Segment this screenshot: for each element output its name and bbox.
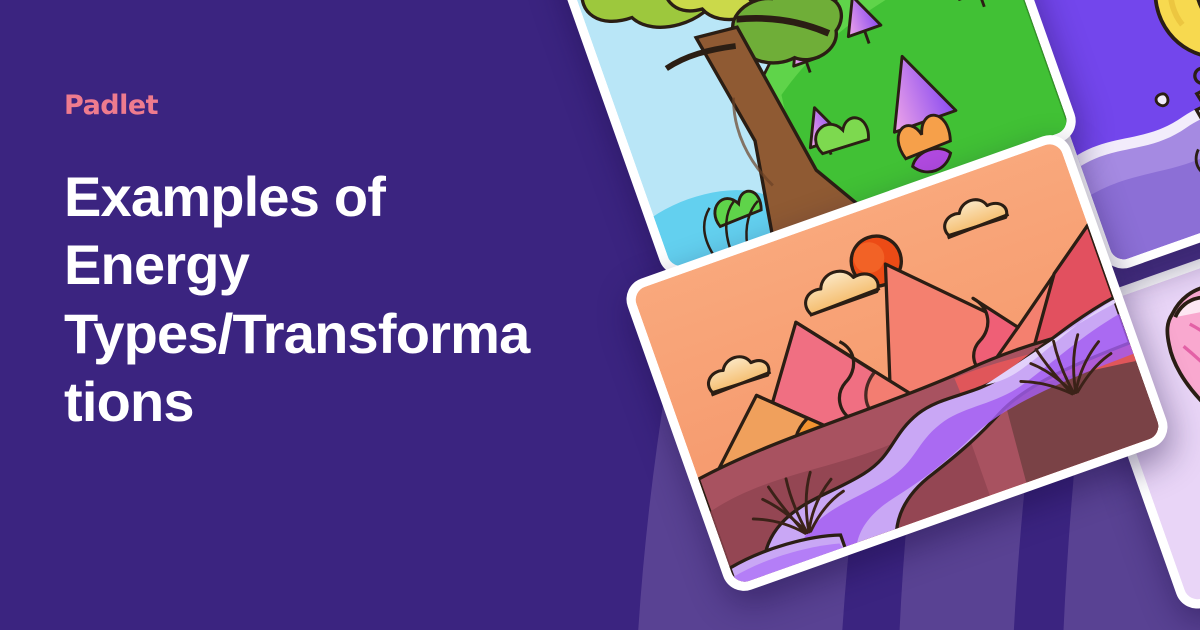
text-column: Padlet Examples of Energy Types/Transfor… — [64, 92, 564, 436]
social-share-card: Padlet Examples of Energy Types/Transfor… — [0, 0, 1200, 630]
page-title: Examples of Energy Types/Transformations — [64, 163, 544, 436]
padlet-logo[interactable]: Padlet — [64, 92, 564, 119]
